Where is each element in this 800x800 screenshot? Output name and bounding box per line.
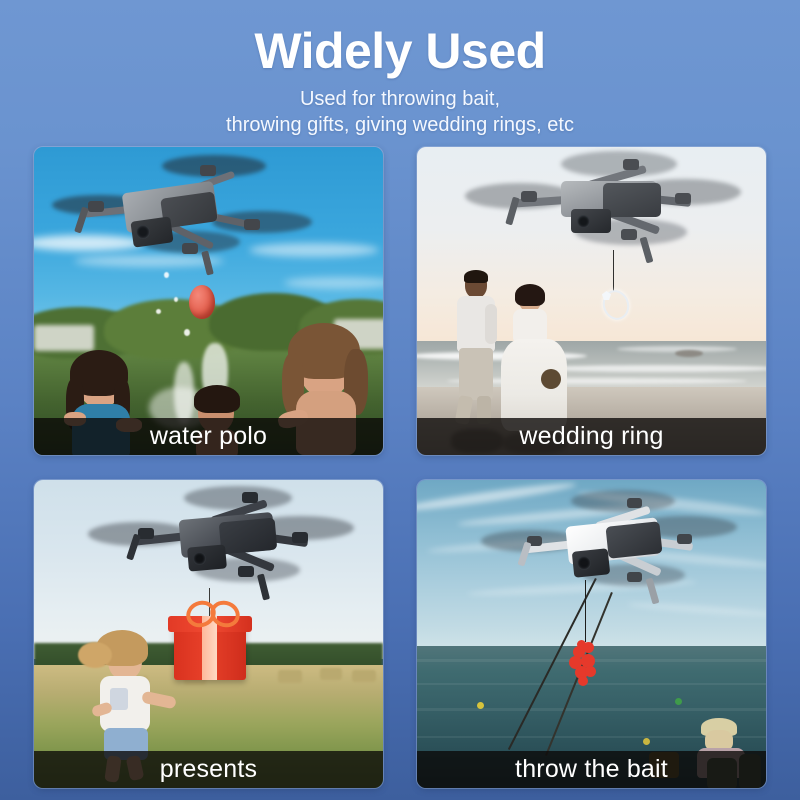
groom-trousers — [459, 348, 493, 400]
scene-presents — [34, 480, 383, 788]
drone-gray — [54, 159, 304, 289]
drone-motor — [292, 532, 308, 543]
tile-throw-the-bait[interactable]: throw the bait — [417, 480, 766, 788]
wall-shape — [34, 325, 94, 351]
camera-lens — [577, 556, 591, 570]
page-subtitle: Used for throwing bait, throwing gifts, … — [0, 86, 800, 138]
drone-body-rear — [603, 183, 661, 217]
bouquet — [541, 369, 561, 389]
camera-lens — [136, 225, 150, 239]
bride-figure — [497, 287, 575, 432]
drone-motor — [623, 159, 639, 170]
drone-white — [487, 492, 727, 612]
usage-tile-grid: water polo — [34, 147, 766, 788]
water-balloon — [189, 285, 215, 319]
drone-motor — [244, 219, 260, 230]
bait-blob — [583, 642, 594, 653]
subtitle-line-1: Used for throwing bait, — [0, 86, 800, 112]
drone-motor — [238, 566, 254, 577]
rock-shape — [675, 350, 703, 357]
water-droplet — [184, 329, 190, 336]
drone-motor — [242, 492, 258, 503]
drone-gray — [465, 157, 735, 269]
buoy-marker — [477, 702, 484, 709]
girl-hair — [78, 642, 112, 668]
hay-bale — [278, 670, 302, 683]
water-droplet — [174, 297, 178, 302]
tile-presents[interactable]: presents — [34, 480, 383, 788]
tshirt-print — [110, 688, 128, 710]
water-droplet — [156, 309, 161, 314]
scene-throw-the-bait — [417, 480, 766, 788]
tile-wedding-ring[interactable]: wedding ring — [417, 147, 766, 455]
drone-dark — [92, 490, 342, 610]
hay-bale — [352, 670, 376, 682]
drone-motor — [621, 229, 637, 240]
tile-caption: throw the bait — [417, 751, 766, 788]
page-root: Widely Used Used for throwing bait, thro… — [0, 0, 800, 800]
drone-motor — [182, 243, 198, 254]
propeller-blur — [571, 490, 675, 512]
drone-motor — [627, 498, 642, 508]
drone-motor — [88, 201, 104, 212]
groom-arm — [485, 304, 497, 344]
drone-motor — [200, 165, 216, 176]
sea-highlight — [417, 708, 766, 711]
bride-hair — [515, 284, 545, 306]
drone-body-rear — [605, 521, 662, 558]
drone-body-rear — [219, 518, 278, 555]
scene-water-polo — [34, 147, 383, 455]
propeller-blur — [184, 486, 292, 510]
bait-blob — [585, 666, 596, 677]
drone-motor — [138, 528, 154, 539]
drone-leg — [201, 251, 214, 276]
tile-caption: wedding ring — [417, 418, 766, 455]
buoy-marker — [675, 698, 682, 705]
camera-lens — [193, 552, 206, 565]
scene-wedding-ring — [417, 147, 766, 455]
camera-lens — [577, 215, 590, 228]
page-title: Widely Used — [0, 22, 800, 80]
bait-blob — [578, 676, 588, 686]
tile-caption: presents — [34, 751, 383, 788]
fishing-bait — [567, 638, 601, 686]
drone-motor — [521, 191, 537, 202]
buoy-marker — [643, 738, 650, 745]
drone-motor — [627, 572, 642, 582]
drone-motor — [675, 193, 691, 204]
page-header: Widely Used Used for throwing bait, thro… — [0, 0, 800, 138]
tile-caption: water polo — [34, 418, 383, 455]
hay-bale — [320, 668, 342, 680]
child-hair — [194, 385, 240, 413]
subtitle-line-2: throwing gifts, giving wedding rings, et… — [0, 112, 800, 138]
drone-motor — [677, 534, 692, 544]
tile-water-polo[interactable]: water polo — [34, 147, 383, 455]
groom-hair — [464, 270, 488, 283]
